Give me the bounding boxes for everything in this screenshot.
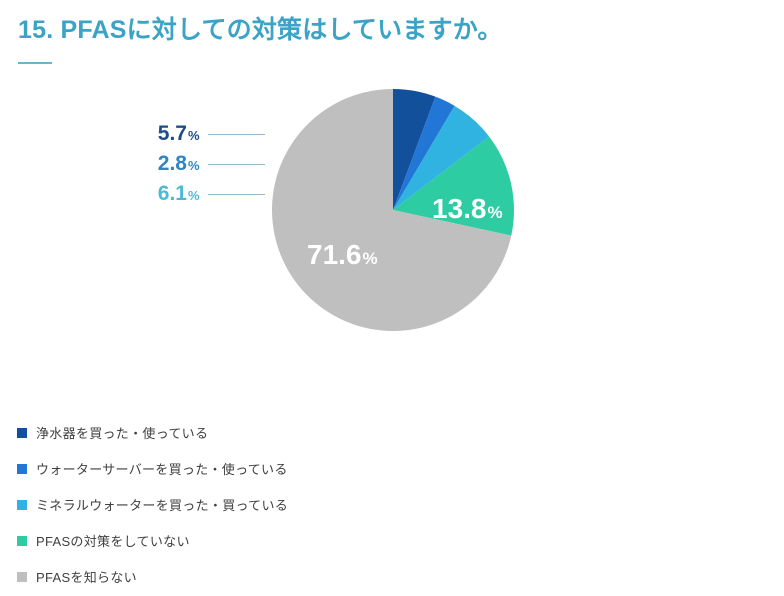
slice-value-teal: 13.8 xyxy=(432,195,487,223)
legend-swatch xyxy=(17,428,27,438)
legend-item[interactable]: ミネラルウォーターを買った・買っている xyxy=(17,487,517,523)
legend-label: PFASの対策をしていない xyxy=(36,535,190,548)
slice-label-pfas-unknown: 71.6 % xyxy=(307,241,378,269)
callout-leader-line-0 xyxy=(208,134,265,136)
legend-swatch xyxy=(17,500,27,510)
legend-swatch xyxy=(17,536,27,546)
legend-item[interactable]: PFASの対策をしていない xyxy=(17,523,517,559)
callout-value-2: 6.1 xyxy=(133,183,187,204)
legend-swatch xyxy=(17,464,27,474)
legend-label: ミネラルウォーターを買った・買っている xyxy=(36,499,288,512)
callout-value-1: 2.8 xyxy=(133,153,187,174)
callout-label-1: 2.8 % xyxy=(133,152,265,174)
pie-chart: 5.7 % 2.8 % 6.1 % 13.8 % 71.6 % xyxy=(0,0,784,400)
legend-label: PFASを知らない xyxy=(36,571,137,584)
legend-swatch xyxy=(17,572,27,582)
legend-label: 浄水器を買った・使っている xyxy=(36,427,208,440)
slice-value-gray: 71.6 xyxy=(307,241,362,269)
callout-leader-line-1 xyxy=(208,164,265,166)
legend-item[interactable]: 浄水器を買った・使っている xyxy=(17,415,517,451)
callout-label-2: 6.1 % xyxy=(133,182,265,204)
legend-label: ウォーターサーバーを買った・使っている xyxy=(36,463,288,476)
callout-value-0: 5.7 xyxy=(133,123,187,144)
callout-leader-line-2 xyxy=(208,194,265,196)
callout-percent-sign-0: % xyxy=(188,129,200,142)
legend: 浄水器を買った・使っているウォーターサーバーを買った・使っているミネラルウォータ… xyxy=(17,415,517,595)
slice-percent-sign-gray: % xyxy=(363,250,378,267)
legend-item[interactable]: ウォーターサーバーを買った・使っている xyxy=(17,451,517,487)
callout-label-0: 5.7 % xyxy=(133,122,265,144)
pie-chart-svg xyxy=(0,0,784,400)
legend-item[interactable]: PFASを知らない xyxy=(17,559,517,595)
slice-percent-sign-teal: % xyxy=(488,204,503,221)
slice-label-pfas-no-measures: 13.8 % xyxy=(432,195,503,223)
callout-percent-sign-2: % xyxy=(188,189,200,202)
callout-percent-sign-1: % xyxy=(188,159,200,172)
